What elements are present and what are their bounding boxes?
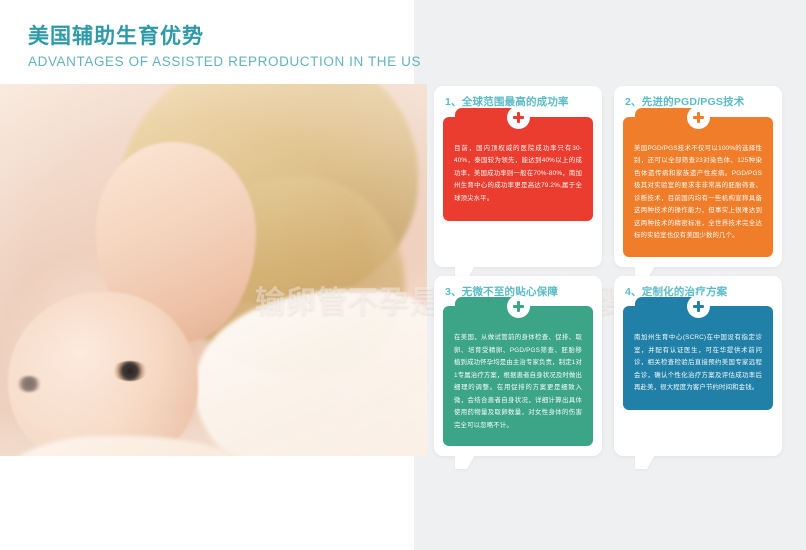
- bottom-right-background-panel: [414, 455, 806, 550]
- hero-photo: [0, 84, 427, 456]
- page-title: 美国辅助生育优势 ADVANTAGES OF ASSISTED REPRODUC…: [28, 24, 421, 70]
- page-title-en: ADVANTAGES OF ASSISTED REPRODUCTION IN T…: [28, 54, 421, 70]
- advantage-card-1[interactable]: 1、全球范围最高的成功率 目前，国内顶权威的医院成功率只有30-40%，泰国较为…: [434, 86, 602, 267]
- advantage-card-2-body: 美国PGD/PGS技术不仅可以100%的选择性别，还可以全部筛查23对染色体、1…: [634, 143, 762, 243]
- plus-icon: [507, 106, 530, 129]
- advantage-card-4[interactable]: 4、定制化的治疗方案 南加州生育中心(SCRC)在中国设有指定诊室，并配有认证医…: [614, 276, 782, 457]
- advantage-card-3-body: 在美国，从做试管前的身体检查、促排、取卵、培育受精卵、PGD/PGS筛查、胚胎移…: [454, 332, 582, 432]
- page-title-cn: 美国辅助生育优势: [28, 24, 421, 50]
- advantage-card-4-panel: 南加州生育中心(SCRC)在中国设有指定诊室，并配有认证医生，可在华提供术前问诊…: [623, 306, 773, 410]
- advantage-card-2-panel: 美国PGD/PGS技术不仅可以100%的选择性别，还可以全部筛查23对染色体、1…: [623, 117, 773, 257]
- advantage-card-3[interactable]: 3、无微不至的贴心保障 在美国，从做试管前的身体检查、促排、取卵、培育受精卵、P…: [434, 276, 602, 457]
- advantage-card-1-panel: 目前，国内顶权威的医院成功率只有30-40%，泰国较为领先，能达到40%以上的成…: [443, 117, 593, 221]
- advantage-card-1-body: 目前，国内顶权威的医院成功率只有30-40%，泰国较为领先，能达到40%以上的成…: [454, 143, 582, 205]
- advantage-card-4-body: 南加州生育中心(SCRC)在中国设有指定诊室，并配有认证医生，可在华提供术前问诊…: [634, 332, 762, 394]
- hero-vignette: [0, 84, 427, 456]
- plus-icon: [507, 295, 530, 318]
- advantage-card-3-panel: 在美国，从做试管前的身体检查、促排、取卵、培育受精卵、PGD/PGS筛查、胚胎移…: [443, 306, 593, 446]
- advantage-card-2[interactable]: 2、先进的PGD/PGS技术 美国PGD/PGS技术不仅可以100%的选择性别，…: [614, 86, 782, 267]
- plus-icon: [687, 295, 710, 318]
- advantage-cards: 1、全球范围最高的成功率 目前，国内顶权威的医院成功率只有30-40%，泰国较为…: [434, 86, 782, 456]
- plus-icon: [687, 106, 710, 129]
- cards-row-bottom: 3、无微不至的贴心保障 在美国，从做试管前的身体检查、促排、取卵、培育受精卵、P…: [434, 276, 782, 457]
- cards-row-top: 1、全球范围最高的成功率 目前，国内顶权威的医院成功率只有30-40%，泰国较为…: [434, 86, 782, 267]
